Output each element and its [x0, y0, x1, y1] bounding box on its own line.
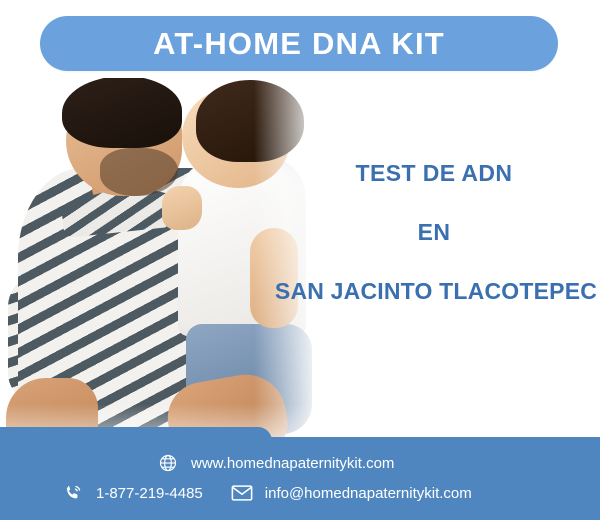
footer-phone-item[interactable]: 1-877-219-4485: [62, 482, 203, 504]
man-hair: [62, 78, 182, 148]
globe-icon: [157, 452, 179, 474]
promo-banner-canvas: AT-HOME DNA KIT TEST DE ADN EN SAN JA: [0, 0, 600, 520]
headline-line-1: TEST DE ADN: [268, 160, 600, 187]
headline-line-3: SAN JACINTO TLACOTEPEC: [272, 278, 600, 305]
footer-website-item[interactable]: www.homednapaternitykit.com: [157, 452, 394, 474]
footer-notch: [0, 427, 272, 449]
footer-website-row: www.homednapaternitykit.com: [157, 452, 394, 474]
child-hand: [162, 186, 202, 230]
footer-website-label: www.homednapaternitykit.com: [191, 456, 394, 471]
footer-contact-row: 1-877-219-4485 info@homednapaternitykit.…: [62, 482, 472, 504]
header-pill: AT-HOME DNA KIT: [40, 16, 558, 71]
footer-email-item[interactable]: info@homednapaternitykit.com: [231, 482, 472, 504]
headline-block: TEST DE ADN EN SAN JACINTO TLACOTEPEC: [268, 160, 600, 305]
header-pill-label: AT-HOME DNA KIT: [153, 26, 445, 62]
headline-line-2: EN: [268, 219, 600, 246]
envelope-icon: [231, 482, 253, 504]
footer-phone-label: 1-877-219-4485: [96, 486, 203, 501]
footer-email-label: info@homednapaternitykit.com: [265, 486, 472, 501]
footer-bar: www.homednapaternitykit.com 1-877-219-44…: [0, 437, 600, 520]
phone-icon: [62, 482, 84, 504]
